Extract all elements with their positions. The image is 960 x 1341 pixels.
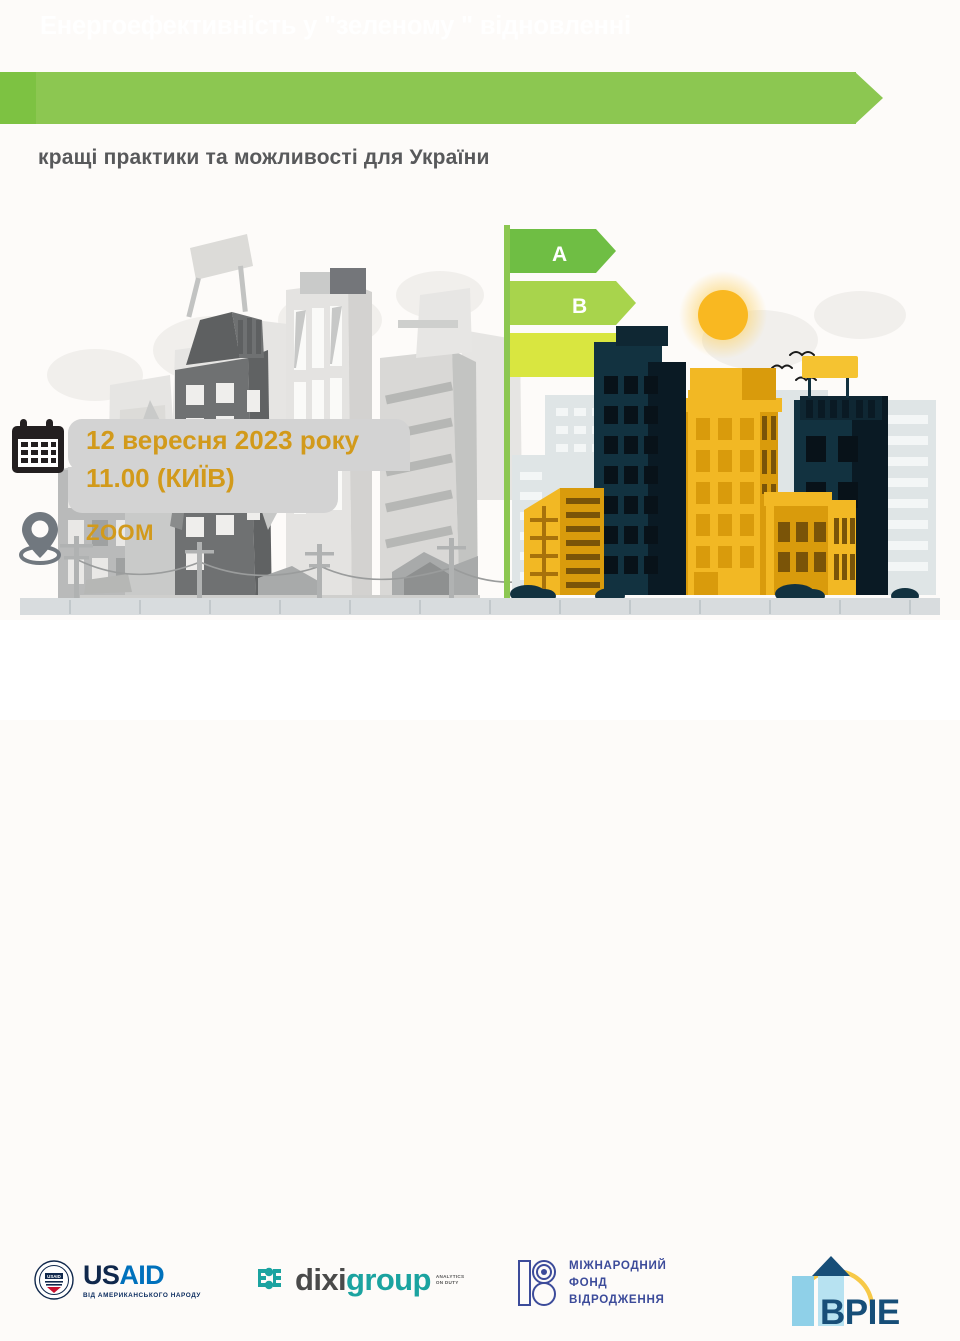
event-location: ZOOM [86,520,154,546]
bpie-mark-icon: BPIE [780,1248,910,1336]
yellow-wing-building [764,492,856,595]
yellow-tower-left [524,488,604,595]
dixigroup-tagline-1: ANALYTICS [436,1274,465,1280]
svg-text:A: A [552,243,567,266]
svg-text:BPIE: BPIE [820,1293,900,1332]
irf-line-1: МІЖНАРОДНИЙ [569,1258,667,1275]
usaid-logo: USAID USAID ВІД АМЕРИКАНСЬКОГО НАРОДУ [34,1260,201,1300]
banner-left-cap [0,72,36,124]
event-time: 11.00 (КИЇВ) [86,463,235,494]
event-info-block: 12 вересня 2023 року 11.00 (КИЇВ) ZOOM [0,205,430,365]
dixigroup-tagline-2: ON DUTY [436,1280,465,1286]
ground-strip [20,598,940,615]
group-word: group [346,1262,431,1297]
location-pin-icon [18,508,62,566]
usaid-word-aid: AID [119,1260,164,1290]
title-banner [0,72,890,124]
bpie-logo: BPIE [780,1248,910,1341]
page-title: Енергоефективність у "зеленому " відновл… [40,0,631,52]
dixi-word: dixi [295,1262,346,1297]
usaid-wordmark: USAID [83,1262,201,1289]
poster-canvas: A B C [0,0,960,720]
international-renaissance-foundation-logo: МІЖНАРОДНИЙ ФОНД ВІДРОДЖЕННЯ [518,1258,667,1308]
energy-label-a: A [510,229,616,273]
usaid-seal-icon: USAID [34,1260,74,1300]
logo-bar: USAID USAID ВІД АМЕРИКАНСЬКОГО НАРОДУ di… [0,620,960,720]
irf-line-3: ВІДРОДЖЕННЯ [569,1292,667,1309]
irf-mark-icon [518,1259,558,1307]
banner-body [36,72,856,124]
dark-tower-left [594,326,686,595]
calendar-icon [10,417,66,475]
svg-text:USAID: USAID [47,1274,61,1279]
page-subtitle: кращі практики та можливості для України [38,146,490,170]
energy-label-b: B [510,281,636,325]
event-date: 12 вересня 2023 року [86,425,359,456]
usaid-word-us: US [83,1260,119,1290]
banner-arrow-tip [855,72,883,124]
usaid-tagline: ВІД АМЕРИКАНСЬКОГО НАРОДУ [83,1292,201,1299]
irf-line-2: ФОНД [569,1275,667,1292]
svg-text:B: B [572,295,587,318]
dixigroup-brain-icon [255,1263,287,1295]
dixigroup-wordmark: dixigroup [295,1264,431,1295]
sun-icon [679,271,767,359]
dixigroup-logo: dixigroup ANALYTICS ON DUTY [255,1263,464,1295]
